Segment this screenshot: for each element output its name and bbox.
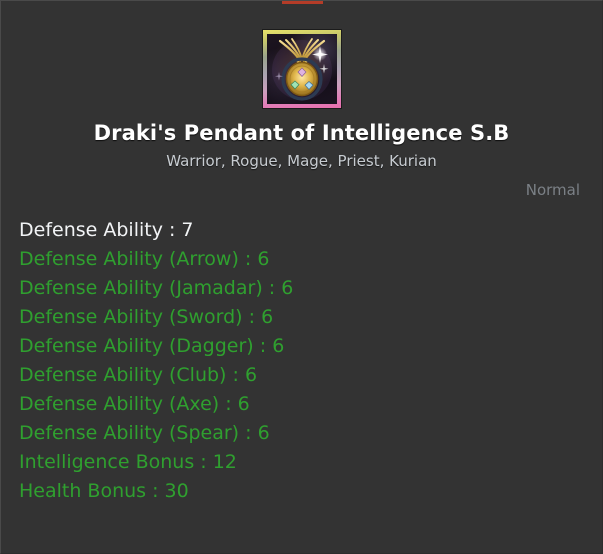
item-classes: Warrior, Rogue, Mage, Priest, Kurian <box>1 152 602 170</box>
stat-line: Defense Ability (Spear) : 6 <box>19 419 592 448</box>
stat-line: Defense Ability (Club) : 6 <box>19 361 592 390</box>
item-grade-label: Normal <box>526 181 580 199</box>
item-header: Draki's Pendant of Intelligence S.B Warr… <box>1 1 602 170</box>
pendant-icon[interactable] <box>263 30 341 108</box>
stat-line: Defense Ability : 7 <box>19 216 592 245</box>
item-tooltip-panel: Draki's Pendant of Intelligence S.B Warr… <box>0 0 603 554</box>
stat-line: Defense Ability (Arrow) : 6 <box>19 245 592 274</box>
stat-line: Defense Ability (Dagger) : 6 <box>19 332 592 361</box>
stat-line: Defense Ability (Jamadar) : 6 <box>19 274 592 303</box>
stat-line: Defense Ability (Sword) : 6 <box>19 303 592 332</box>
item-stat-list: Defense Ability : 7Defense Ability (Arro… <box>19 216 592 506</box>
stat-line: Health Bonus : 30 <box>19 477 592 506</box>
pendant-icon-inner <box>267 34 337 104</box>
stat-line: Intelligence Bonus : 12 <box>19 448 592 477</box>
item-title: Draki's Pendant of Intelligence S.B <box>1 121 602 145</box>
stat-line: Defense Ability (Axe) : 6 <box>19 390 592 419</box>
